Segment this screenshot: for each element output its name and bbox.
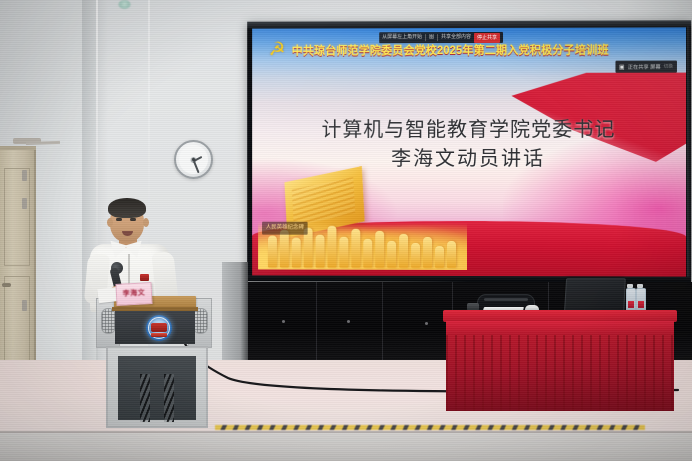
speaker-ear [107, 218, 113, 227]
toolbar-divider [425, 34, 426, 41]
door-handle [2, 283, 11, 287]
table-skirt-top-band [446, 321, 674, 335]
monument-relief-graphic: 人民英雄纪念碑 [258, 166, 467, 270]
speaker-grill-icon [101, 308, 116, 334]
speaker-eyebrow [129, 214, 136, 216]
toolbar-item-share-all[interactable]: 共享全部内容 [441, 32, 471, 43]
slide-title-line1: 计算机与智能教育学院党委书记 [252, 116, 686, 145]
sharing-status-text: 正在共享 屏幕 [628, 63, 661, 70]
podium-desktop-edge [112, 307, 198, 311]
stage-wall-fixture [425, 322, 428, 325]
hammer-and-sickle-icon: ☭ [266, 40, 288, 60]
speaker-eyebrow [115, 214, 122, 216]
stage-wall-fixture [282, 320, 285, 323]
sharing-status-badge[interactable]: ▣ 正在共享 屏幕 切换 [615, 61, 677, 73]
speaker-eye [130, 218, 136, 221]
stop-share-button[interactable]: 停止共享 [474, 32, 500, 42]
monument-plaque-text: 人民英雄纪念碑 [262, 222, 308, 235]
presentation-table [443, 310, 677, 414]
name-card: 李海文 [115, 282, 152, 306]
sharing-switch-label[interactable]: 切换 [664, 64, 673, 70]
podium-vent [164, 374, 174, 422]
monument-plaque: 人民英雄纪念碑 [262, 222, 308, 235]
podium-body [106, 346, 208, 428]
door-top-rail [0, 146, 36, 150]
toolbar-divider [437, 34, 438, 41]
hazard-edge-strip [215, 425, 645, 430]
screen-right-edge [687, 26, 691, 277]
screen-share-toolbar[interactable]: 从屏幕左上角开始 图 共享全部内容 停止共享 [379, 32, 503, 43]
podium [96, 296, 212, 424]
clock-face [179, 145, 208, 174]
slide-surface: ☭ 中共琼台师范学院委员会党校2025年第二期入党积极分子培训班 从屏幕左上角开… [252, 27, 686, 276]
ceiling-light-fixture [118, 0, 131, 9]
speaker-hair [108, 198, 146, 218]
door-panel [4, 168, 30, 266]
toolbar-item-mode[interactable]: 图 [429, 32, 434, 43]
wall-clock [174, 140, 213, 179]
name-card-text: 李海文 [116, 283, 151, 305]
podium-body-panel [118, 356, 196, 420]
led-display-screen[interactable]: ☭ 中共琼台师范学院委员会党校2025年第二期入党积极分子培训班 从屏幕左上角开… [247, 20, 691, 282]
school-crest-icon [146, 315, 172, 341]
monitor-icon: ▣ [619, 63, 625, 70]
door-hinge [22, 198, 27, 209]
clock-center-pin [192, 158, 195, 161]
front-floor [0, 433, 692, 461]
door-hinge [22, 300, 27, 311]
toolbar-item-source[interactable]: 从屏幕左上角开始 [382, 32, 422, 43]
chair-backrest-highlight [484, 298, 528, 301]
slide-banner-text: 中共琼台师范学院委员会党校2025年第二期入党积极分子培训班 [292, 41, 670, 58]
laptop-screen[interactable] [564, 278, 626, 314]
door-hinge [22, 170, 27, 181]
speaker-party-badge [140, 274, 149, 281]
podium-vent [140, 374, 150, 422]
stage-wall-fixture [347, 320, 350, 323]
photo-scene: ☭ 中共琼台师范学院委员会党校2025年第二期入党积极分子培训班 从屏幕左上角开… [0, 0, 692, 461]
speaker-eye [116, 218, 122, 221]
speaker-ear [143, 218, 149, 227]
speaker-grill-icon [193, 308, 208, 334]
